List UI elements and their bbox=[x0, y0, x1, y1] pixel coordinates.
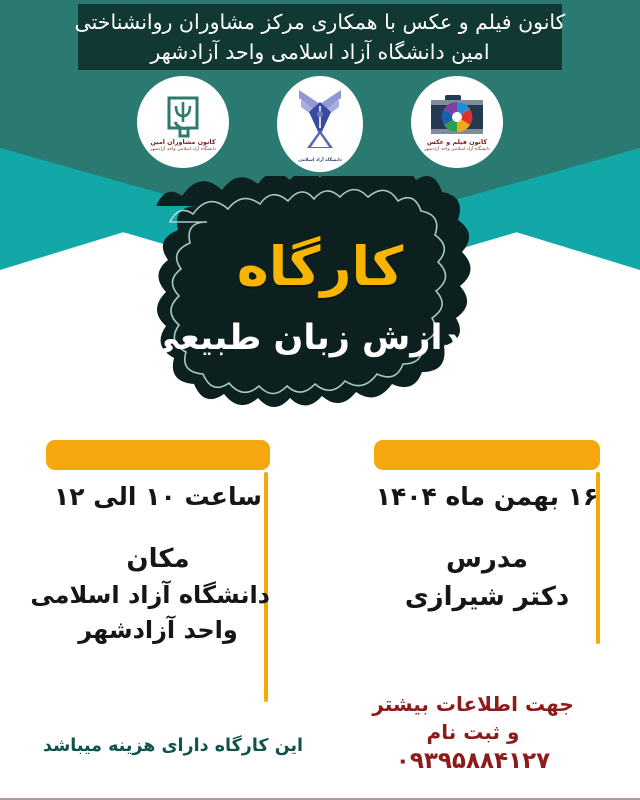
logo-subcaption: دانشگاه آزاد اسلامی واحد آزادشهر bbox=[150, 146, 216, 153]
instructor-name: دکتر شیرازی bbox=[374, 578, 600, 616]
logo-caption: کانون فیلم و عکس bbox=[427, 139, 487, 146]
time-place-column: ساعت ۱۰ الی ۱۲ مکان دانشگاه آزاد اسلامی … bbox=[46, 440, 270, 648]
fee-note: این کارگاه دارای هزینه میباشد bbox=[28, 734, 318, 758]
title-plaque: کارگاه پردازش زبان طبیعی bbox=[96, 176, 544, 416]
amin-counselors-club-logo: کانون مشاوران امین دانشگاه آزاد اسلامی و… bbox=[137, 76, 229, 168]
instructor-label: مدرس bbox=[374, 540, 600, 578]
contact-line-2: و ثبت نام bbox=[348, 718, 598, 746]
film-and-photo-club-logo: کانون فیلم و عکس دانشگاه آزاد اسلامی واح… bbox=[411, 76, 503, 168]
place-line-2: واحد آزادشهر bbox=[46, 613, 270, 648]
date-instructor-column: ۱۶ بهمن ماه ۱۴۰۴ مدرس دکتر شیرازی bbox=[374, 440, 600, 616]
logo-caption: کانون مشاوران امین bbox=[150, 139, 215, 146]
contact-phone[interactable]: ۰۹۳۹۵۸۸۴۱۲۷ bbox=[348, 746, 598, 776]
header-line-1: کانون فیلم و عکس با همکاری مرکز مشاوران … bbox=[75, 7, 566, 37]
event-poster: کانون فیلم و عکس با همکاری مرکز مشاوران … bbox=[0, 0, 640, 800]
right-column-bar bbox=[374, 440, 600, 470]
left-column-bar bbox=[46, 440, 270, 470]
camera-aperture-icon bbox=[429, 92, 485, 138]
plaque-shape bbox=[96, 176, 544, 416]
place-line-1: دانشگاه آزاد اسلامی bbox=[46, 578, 270, 613]
event-time: ساعت ۱۰ الی ۱۲ bbox=[46, 480, 270, 514]
event-date: ۱۶ بهمن ماه ۱۴۰۴ bbox=[374, 480, 600, 514]
left-column-body: ساعت ۱۰ الی ۱۲ مکان دانشگاه آزاد اسلامی … bbox=[46, 470, 270, 648]
islamic-azad-university-logo: دانشگاه آزاد اسلامی bbox=[277, 76, 363, 172]
header-band: کانون فیلم و عکس با همکاری مرکز مشاوران … bbox=[78, 4, 562, 70]
logo-caption: دانشگاه آزاد اسلامی bbox=[298, 157, 342, 164]
logo-row: کانون فیلم و عکس دانشگاه آزاد اسلامی واح… bbox=[0, 76, 640, 172]
header-line-2: امین دانشگاه آزاد اسلامی واحد آزادشهر bbox=[150, 37, 489, 67]
azad-university-wings-icon bbox=[291, 84, 349, 156]
right-column-body: ۱۶ بهمن ماه ۱۴۰۴ مدرس دکتر شیرازی bbox=[374, 470, 600, 616]
contact-block: جهت اطلاعات بیشتر و ثبت نام ۰۹۳۹۵۸۸۴۱۲۷ bbox=[348, 690, 598, 776]
place-label: مکان bbox=[46, 540, 270, 578]
logo-subcaption: دانشگاه آزاد اسلامی واحد آزادشهر bbox=[424, 146, 490, 153]
contact-line-1: جهت اطلاعات بیشتر bbox=[348, 690, 598, 718]
head-psi-icon bbox=[159, 92, 207, 138]
